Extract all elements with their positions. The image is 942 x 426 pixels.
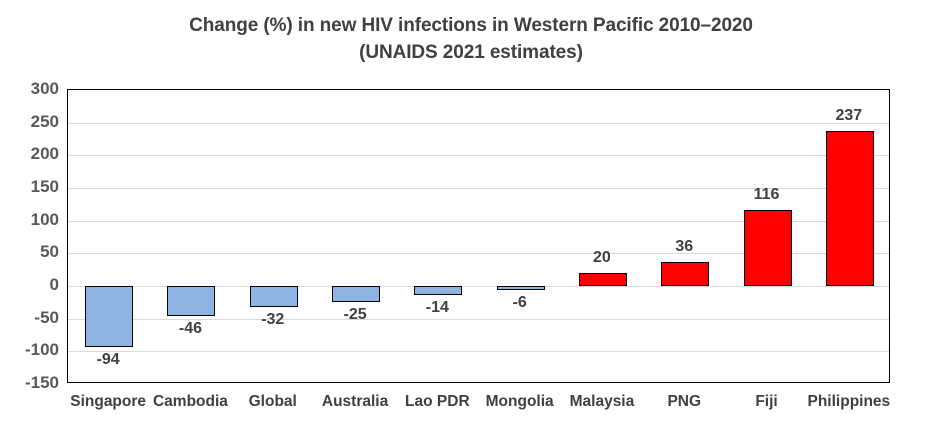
bar-chart: Change (%) in new HIV infections in West…	[0, 0, 942, 426]
bar-value-label: 116	[722, 187, 812, 203]
chart-title-line-1: Change (%) in new HIV infections in West…	[189, 15, 753, 36]
gridline	[68, 123, 889, 124]
y-axis-tick-label: -100	[1, 341, 59, 358]
gridline	[68, 351, 889, 352]
bar-value-label: -46	[145, 321, 235, 337]
y-axis-tick-label: 100	[1, 211, 59, 228]
bar-value-label: -94	[63, 352, 153, 368]
bar-value-label: -6	[475, 295, 565, 311]
x-axis-tick-label: Philippines	[789, 393, 909, 411]
bar	[744, 210, 792, 286]
y-axis-tick-label: 300	[1, 80, 59, 97]
bar	[661, 262, 709, 286]
y-axis-tick-label: 150	[1, 178, 59, 195]
bar-value-label: 20	[557, 250, 647, 266]
y-axis-tick-label: -150	[1, 374, 59, 391]
y-axis-tick-label: 50	[1, 243, 59, 260]
bar	[826, 131, 874, 286]
gridline	[68, 155, 889, 156]
bar	[414, 286, 462, 295]
y-axis-tick-label: 250	[1, 113, 59, 130]
bar	[497, 286, 545, 290]
bar-value-label: -32	[228, 312, 318, 328]
bar-value-label: -14	[392, 300, 482, 316]
bar-value-label: -25	[310, 307, 400, 323]
chart-title-line-2: (UNAIDS 2021 estimates)	[0, 39, 942, 66]
y-axis-tick-label: 200	[1, 145, 59, 162]
bar	[167, 286, 215, 316]
bar-value-label: 36	[639, 239, 729, 255]
bar-value-label: 237	[804, 108, 894, 124]
y-axis-tick-label: 0	[1, 276, 59, 293]
bar	[332, 286, 380, 302]
bar	[579, 273, 627, 286]
bar	[85, 286, 133, 347]
bar	[250, 286, 298, 307]
y-axis-tick-label: -50	[1, 309, 59, 326]
chart-title: Change (%) in new HIV infections in West…	[0, 12, 942, 66]
plot-area	[67, 89, 890, 383]
